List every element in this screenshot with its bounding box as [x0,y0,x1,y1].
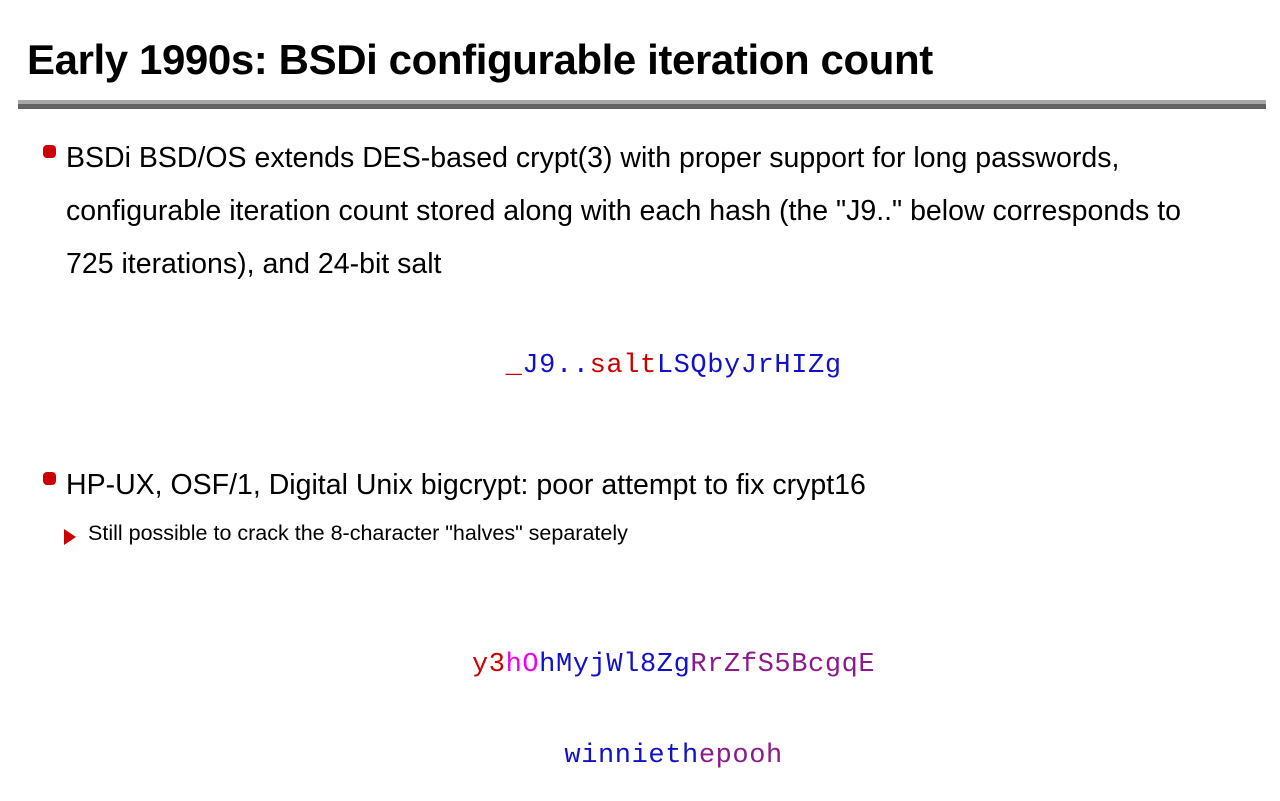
vertical-spacer [0,411,1280,459]
sub-bullet-item-label: Still possible to crack the 8-character … [88,518,1280,548]
hash-segment-salt: salt [590,351,657,381]
triangle-bullet-icon [64,529,76,545]
hash-segment-two: hO [506,650,540,680]
bullet-item-label: HP-UX, OSF/1, Digital Unix bigcrypt: poo… [66,459,1200,512]
title-divider [18,100,1266,109]
hash-segment-one: y3 [472,650,506,680]
bullet-item-label: BSDi BSD/OS extends DES-based crypt(3) w… [66,132,1200,291]
round-bullet-icon [43,472,56,485]
bigcrypt-password-example: winniethepooh [0,711,1280,801]
bullet-item: BSDi BSD/OS extends DES-based crypt(3) w… [0,132,1280,291]
hash-segment-digest: LSQbyJrHIZg [657,351,842,381]
title-divider-dark-band [18,104,1266,109]
hash-segment-four: RrZfS5BcgqE [690,650,875,680]
vertical-spacer [0,548,1280,582]
sub-bullet-item: Still possible to crack the 8-character … [0,518,1280,548]
slide-body: BSDi BSD/OS extends DES-based crypt(3) w… [0,132,1280,801]
round-bullet-icon [43,145,56,158]
bigcrypt-hash-example: y3hOhMyjWl8ZgRrZfS5BcgqE [0,620,1280,710]
bsdi-hash-example: _J9..saltLSQbyJrHIZg [0,321,1280,411]
password-segment-first-half: winnieth [564,741,698,771]
hash-segment-prefix: _ [506,351,523,381]
hash-segment-three: hMyjWl8Zg [539,650,690,680]
hash-segment-rounds: J9.. [522,351,589,381]
password-segment-second-half: epooh [699,741,783,771]
page-title: Early 1990s: BSDi configurable iteration… [27,38,933,82]
bullet-item: HP-UX, OSF/1, Digital Unix bigcrypt: poo… [0,459,1280,512]
